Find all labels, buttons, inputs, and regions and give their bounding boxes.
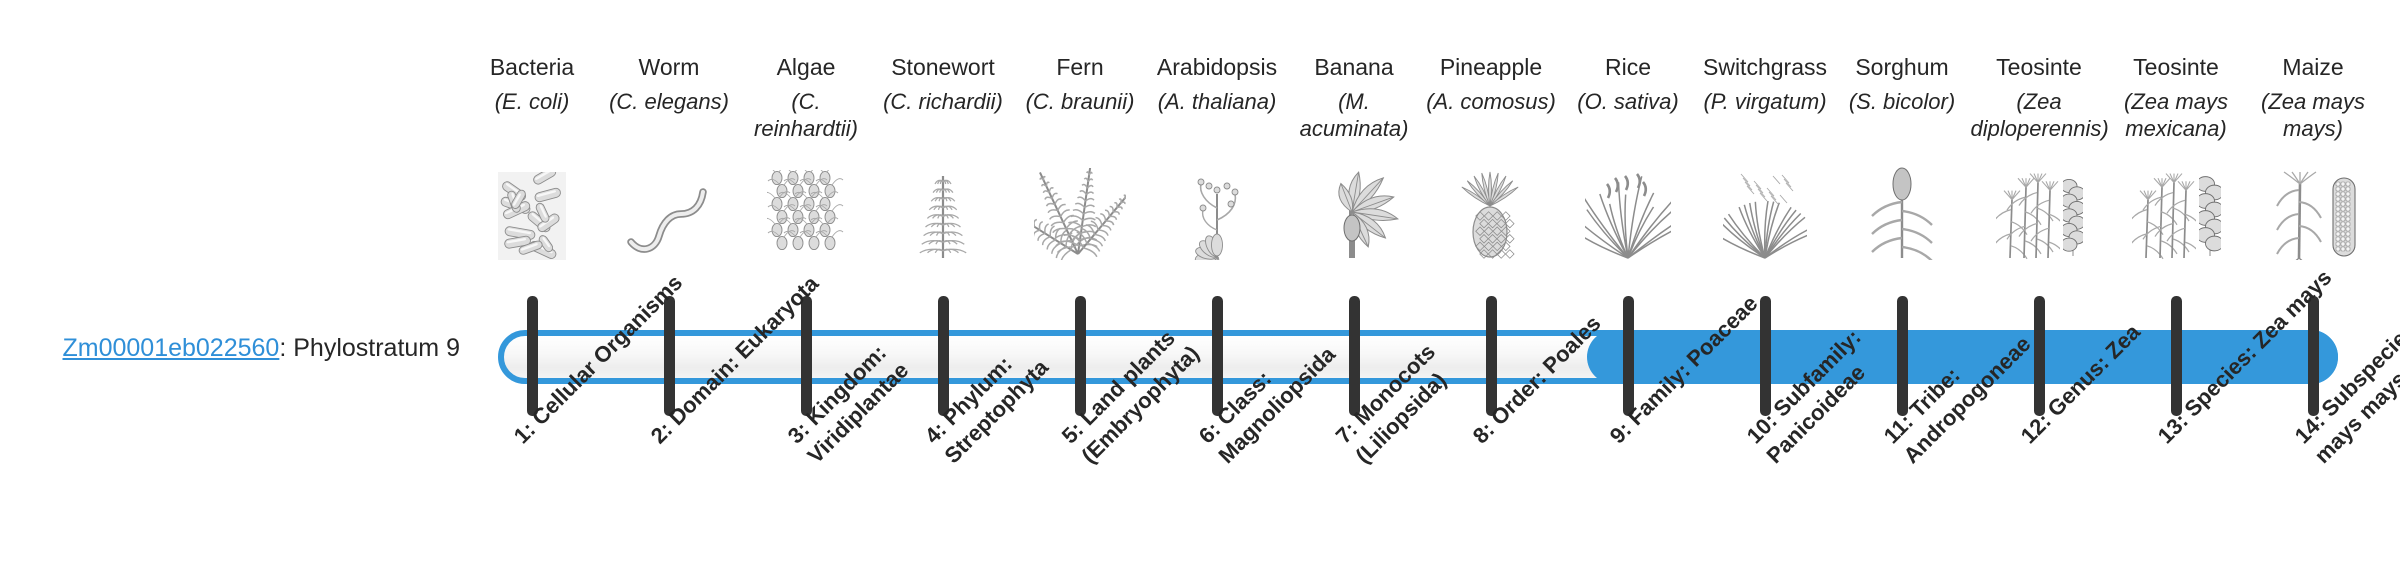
maize-illustration [2245, 168, 2382, 260]
species-latin-name: (C. richardii) [875, 88, 1012, 115]
phylostratum-tick-3 [801, 296, 812, 416]
species-common-name: Worm [601, 52, 738, 82]
switchgrass-illustration [1697, 168, 1834, 260]
sorghum-illustration [1834, 168, 1971, 260]
species-latin-name: (Zea mays mays) [2245, 88, 2382, 142]
phylostratum-tick-9 [1623, 296, 1634, 416]
species-header-6: Arabidopsis(A. thaliana) [1149, 52, 1286, 115]
species-common-name: Arabidopsis [1149, 52, 1286, 82]
gene-label-separator: : [279, 334, 293, 362]
pineapple-illustration [1423, 168, 1560, 260]
teosinte-diploperennis-illustration [1971, 168, 2108, 260]
species-latin-name: (E. coli) [464, 88, 601, 115]
species-header-5: Fern(C. braunii) [1012, 52, 1149, 115]
species-latin-name: (P. virgatum) [1697, 88, 1834, 115]
species-header-12: Teosinte(Zea diploperennis) [1971, 52, 2108, 142]
species-header-7: Banana(M. acuminata) [1286, 52, 1423, 142]
species-header-14: Maize(Zea mays mays) [2245, 52, 2382, 142]
species-header-2: Worm(C. elegans) [601, 52, 738, 115]
species-common-name: Switchgrass [1697, 52, 1834, 82]
stonewort-illustration [875, 168, 1012, 260]
species-latin-name: (S. bicolor) [1834, 88, 1971, 115]
species-header-1: Bacteria(E. coli) [464, 52, 601, 115]
rice-illustration [1560, 168, 1697, 260]
phylostratum-tick-2 [664, 296, 675, 416]
species-common-name: Pineapple [1423, 52, 1560, 82]
species-common-name: Teosinte [2108, 52, 2245, 82]
species-latin-name: (C. reinhardtii) [738, 88, 875, 142]
species-common-name: Rice [1560, 52, 1697, 82]
species-common-name: Algae [738, 52, 875, 82]
species-common-name: Teosinte [1971, 52, 2108, 82]
banana-illustration [1286, 168, 1423, 260]
species-header-10: Switchgrass(P. virgatum) [1697, 52, 1834, 115]
species-common-name: Sorghum [1834, 52, 1971, 82]
species-latin-name: (A. comosus) [1423, 88, 1560, 115]
algae-illustration [738, 168, 875, 260]
phylostratum-tick-13 [2171, 296, 2182, 416]
species-latin-name: (Zea mays mexicana) [2108, 88, 2245, 142]
species-header-4: Stonewort(C. richardii) [875, 52, 1012, 115]
arabidopsis-illustration [1149, 168, 1286, 260]
gene-phylostratum-label: Zm00001eb022560: Phylostratum 9 [40, 333, 460, 363]
species-header-3: Algae(C. reinhardtii) [738, 52, 875, 142]
species-latin-name: (Zea diploperennis) [1971, 88, 2108, 142]
teosinte-mexicana-illustration [2108, 168, 2245, 260]
species-common-name: Fern [1012, 52, 1149, 82]
phylostratum-tick-10 [1760, 296, 1771, 416]
species-latin-name: (C. braunii) [1012, 88, 1149, 115]
species-header-9: Rice(O. sativa) [1560, 52, 1697, 115]
phylostratum-tick-14 [2308, 296, 2319, 416]
species-common-name: Bacteria [464, 52, 601, 82]
species-common-name: Banana [1286, 52, 1423, 82]
species-header-8: Pineapple(A. comosus) [1423, 52, 1560, 115]
bacteria-illustration [464, 168, 601, 260]
phylostratum-number: 12: [2016, 408, 2056, 448]
phylostratum-figure: Zm00001eb022560: Phylostratum 9 Bacteria… [0, 0, 2400, 580]
fern-illustration [1012, 168, 1149, 260]
species-common-name: Maize [2245, 52, 2382, 82]
species-latin-name: (M. acuminata) [1286, 88, 1423, 142]
species-latin-name: (A. thaliana) [1149, 88, 1286, 115]
worm-illustration [601, 168, 738, 260]
phylostratum-tick-1 [527, 296, 538, 416]
phylostratum-value-text: Phylostratum 9 [293, 334, 460, 362]
gene-id-link[interactable]: Zm00001eb022560 [62, 334, 279, 362]
species-latin-name: (O. sativa) [1560, 88, 1697, 115]
species-common-name: Stonewort [875, 52, 1012, 82]
species-latin-name: (C. elegans) [601, 88, 738, 115]
species-header-13: Teosinte(Zea mays mexicana) [2108, 52, 2245, 142]
phylostratum-number: 13: [2153, 408, 2193, 448]
species-header-11: Sorghum(S. bicolor) [1834, 52, 1971, 115]
